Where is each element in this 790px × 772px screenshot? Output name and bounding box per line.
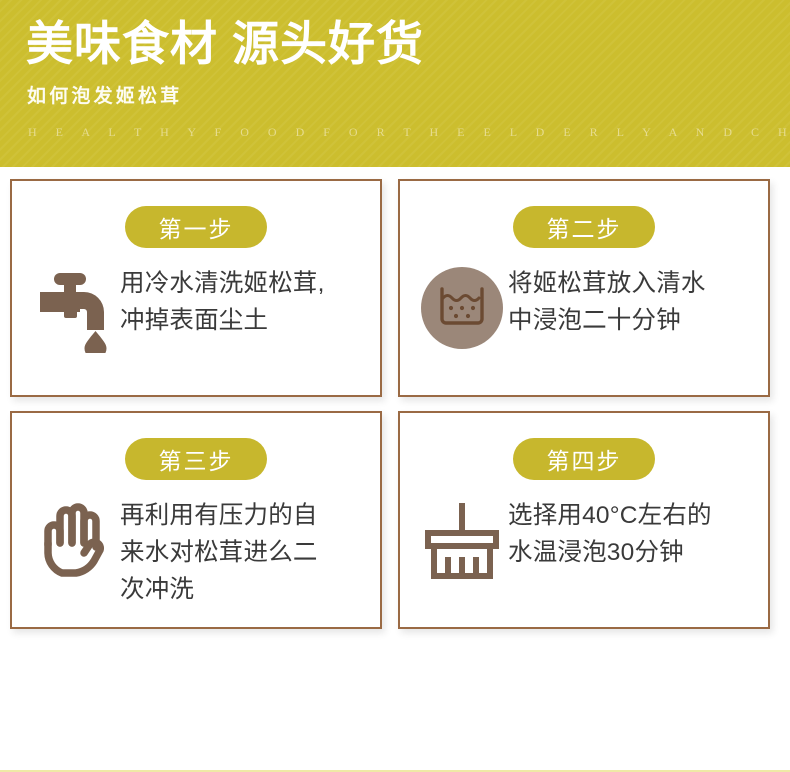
step-body-3: 再利用有压力的自 来水对松茸进么二 次冲洗	[12, 495, 380, 621]
step-body-4: 选择用40°C左右的 水温浸泡30分钟	[400, 495, 768, 621]
step-card-4: 第四步 选择用40°C左右的 水温浸泡30分钟	[398, 411, 770, 629]
step-badge-2: 第二步	[513, 206, 655, 248]
step-icon-slot-1	[28, 263, 120, 353]
brush-icon	[423, 499, 501, 583]
step-card-1: 第一步 用冷水清洗姬松茸, 冲掉表面尘土	[10, 179, 382, 397]
page-title: 美味食材源头好货	[26, 17, 424, 73]
steps-grid: 第一步 用冷水清洗姬松茸, 冲掉表面尘土 第二步	[0, 167, 790, 629]
step-text-4: 选择用40°C左右的 水温浸泡30分钟	[508, 495, 760, 571]
page-eyebrow-text: H E A L T H Y F O O D F O R T H E E L D …	[28, 124, 790, 140]
hand-icon	[34, 499, 114, 581]
step-text-1: 用冷水清洗姬松茸, 冲掉表面尘土	[120, 263, 372, 339]
step-badge-3: 第三步	[125, 438, 267, 480]
step-card-3: 第三步 再利用有压力的自 来水对松茸进么二 次冲洗	[10, 411, 382, 629]
faucet-icon	[35, 267, 113, 353]
page-title-part2: 源头好货	[232, 19, 424, 71]
step-body-2: 将姬松茸放入清水 中浸泡二十分钟	[400, 263, 768, 389]
step-body-1: 用冷水清洗姬松茸, 冲掉表面尘土	[12, 263, 380, 389]
icon-circle-backdrop	[421, 267, 503, 349]
water-basin-icon	[437, 285, 487, 331]
step-icon-slot-3	[28, 495, 120, 581]
page-header: 美味食材源头好货 如何泡发姬松茸 H E A L T H Y F O O D F…	[0, 0, 790, 167]
page-subtitle: 如何泡发姬松茸	[27, 84, 182, 110]
step-badge-1: 第一步	[125, 206, 267, 248]
step-icon-slot-2	[416, 263, 508, 349]
step-text-2: 将姬松茸放入清水 中浸泡二十分钟	[508, 263, 760, 339]
step-badge-4: 第四步	[513, 438, 655, 480]
step-icon-slot-4	[416, 495, 508, 583]
step-text-3: 再利用有压力的自 来水对松茸进么二 次冲洗	[120, 495, 372, 608]
page-title-part1: 美味食材	[26, 19, 218, 71]
step-card-2: 第二步 将姬松茸放入清水 中浸泡二十分钟	[398, 179, 770, 397]
